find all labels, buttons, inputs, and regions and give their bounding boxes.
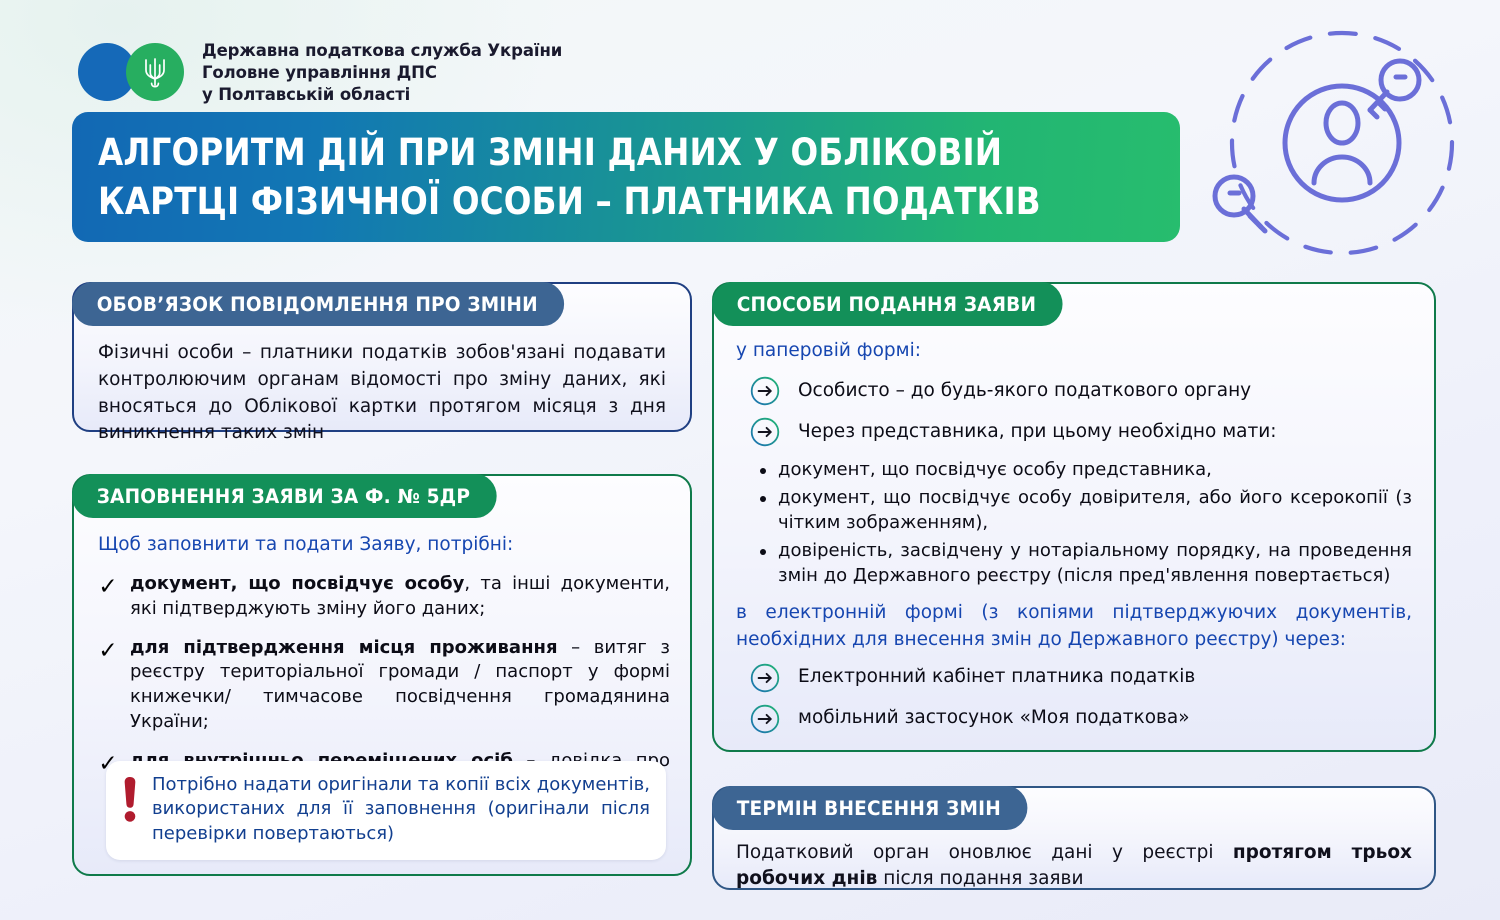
section-term-title: ТЕРМІН ВНЕСЕННЯ ЗМІН [712,786,1028,830]
list-item-bold: для підтвердження місця проживання [130,637,558,658]
organization-name: Державна податкова служба України Головн… [202,36,562,106]
obligation-paragraph: Фізичні особи – платники податків зобов'… [98,340,666,447]
section-application-form-title: ЗАПОВНЕННЯ ЗАЯВИ ЗА Ф. № 5ДР [72,474,497,518]
electronic-form-heading: в електронній формі (з копіями підтвердж… [736,600,1412,653]
trident-emblem-icon [126,43,184,101]
section-submission-methods-body: у паперовій формі: [714,284,1434,734]
logo-marks [78,36,202,108]
list-item-bold: документ, що посвідчує особу [130,573,464,594]
list-item: ✓ для підтвердження місця проживання – в… [98,636,670,735]
warning-callout: Потрібно надати оригінали та копії всіх … [106,761,666,860]
arrow-right-circle-icon [750,417,780,447]
list-item-text: для підтвердження місця проживання – вит… [130,636,670,735]
section-submission-methods: СПОСОБИ ПОДАННЯ ЗАЯВИ у паперовій формі: [712,282,1436,752]
check-icon: ✓ [98,574,118,601]
term-text-before: Податковий орган оновлює дані у реєстрі [736,842,1233,863]
section-submission-methods-title: СПОСОБИ ПОДАННЯ ЗАЯВИ [712,282,1063,326]
paper-option-label: Через представника, при цьому необхідно … [798,420,1277,445]
user-in-circle-with-keys-icon [1192,18,1492,268]
paper-option-label: Особисто – до будь-якого податкового орг… [798,379,1251,404]
section-application-form-body: Щоб заповнити та подати Заяву, потрібні:… [74,476,690,799]
arrow-right-circle-icon [750,376,780,406]
org-title-dept: Головне управління ДПС [202,62,562,84]
page-title-line-1: АЛГОРИТМ ДІЙ ПРИ ЗМІНІ ДАНИХ У ОБЛІКОВІЙ [98,128,1029,177]
term-text-after: після подання заяви [877,868,1083,889]
check-icon: ✓ [98,638,118,665]
list-item: ✓ документ, що посвідчує особу, та інші … [98,572,670,622]
page-title-banner: АЛГОРИТМ ДІЙ ПРИ ЗМІНІ ДАНИХ У ОБЛІКОВІЙ… [72,112,1180,242]
section-obligation: ОБОВ’ЯЗОК ПОВІДОМЛЕННЯ ПРО ЗМІНИ Фізичні… [72,282,692,432]
paper-form-heading: у паперовій формі: [736,338,1412,364]
electronic-option-row: мобільний застосунок «Моя податкова» [736,704,1412,734]
application-form-intro: Щоб заповнити та подати Заяву, потрібні: [98,532,670,558]
section-term: ТЕРМІН ВНЕСЕННЯ ЗМІН Податковий орган он… [712,786,1436,890]
organization-header: Державна податкова служба України Головн… [78,36,562,108]
list-item: довіреність, засвідчену у нотаріальному … [758,539,1412,589]
section-application-form: ЗАПОВНЕННЯ ЗАЯВИ ЗА Ф. № 5ДР Щоб заповни… [72,474,692,876]
warning-text: Потрібно надати оригінали та копії всіх … [152,773,650,847]
infographic-page: Державна податкова служба України Головн… [0,0,1500,920]
electronic-option-label: мобільний застосунок «Моя податкова» [798,706,1190,731]
paper-option-row: Через представника, при цьому необхідно … [736,417,1412,447]
org-title-main: Державна податкова служба України [202,40,562,62]
arrow-right-circle-icon [750,663,780,693]
electronic-option-row: Електронний кабінет платника податків [736,663,1412,693]
electronic-option-label: Електронний кабінет платника податків [798,665,1195,690]
list-item: документ, що посвідчує особу представник… [758,458,1412,483]
arrow-right-circle-icon [750,704,780,734]
page-title-line-2: КАРТЦІ ФІЗИЧНОЇ ОСОБИ – ПЛАТНИКА ПОДАТКІ… [98,177,1029,226]
exclamation-mark-icon [122,773,138,826]
list-item: документ, що посвідчує особу довірителя,… [758,486,1412,536]
representative-documents-list: документ, що посвідчує особу представник… [736,458,1412,588]
paper-option-row: Особисто – до будь-якого податкового орг… [736,376,1412,406]
section-obligation-title: ОБОВ’ЯЗОК ПОВІДОМЛЕННЯ ПРО ЗМІНИ [72,282,564,326]
term-paragraph: Податковий орган оновлює дані у реєстрі … [736,840,1412,893]
org-title-region: у Полтавській області [202,84,562,106]
list-item-text: документ, що посвідчує особу, та інші до… [130,572,670,622]
